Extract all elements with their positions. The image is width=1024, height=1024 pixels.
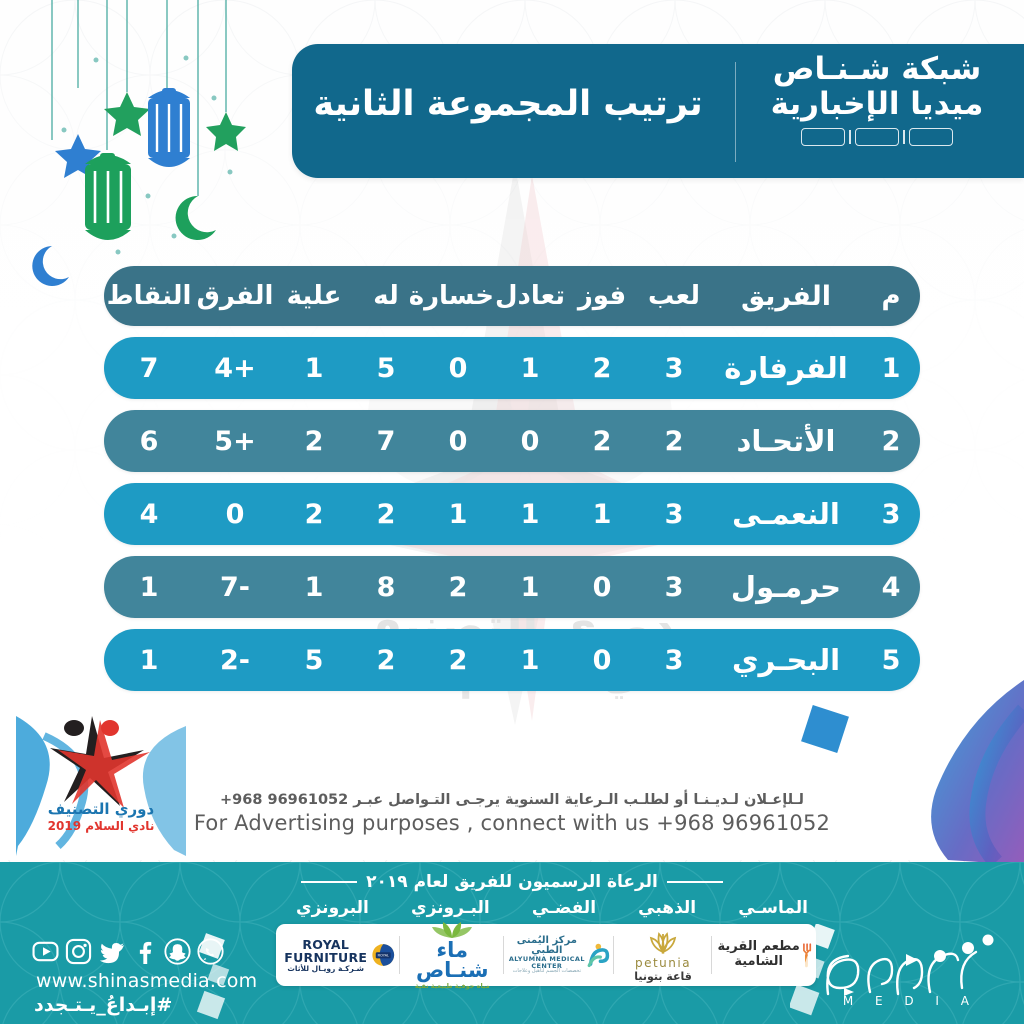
cell-played: 3 [638, 645, 710, 676]
cell-gf: 2 [350, 645, 422, 676]
sponsor-name-maa-shinas: ماء شنـاص [404, 941, 500, 981]
cell-loss: 2 [422, 645, 494, 676]
leaves-icon [429, 920, 475, 938]
header-divider [735, 62, 737, 162]
cell-team: البحـري [710, 643, 862, 677]
sponsor-name-royal: ROYAL FURNITURE [280, 938, 372, 964]
col-header-points: النقاط [106, 281, 192, 311]
cell-rank: 2 [862, 426, 920, 457]
brand-decoration-boxes [752, 128, 1002, 146]
table-row: 1 الفرفارة 3 2 1 0 5 1 +4 7 [104, 337, 920, 399]
brand-line-2: ميديا الإخبارية [752, 87, 1002, 122]
cell-gd: -7 [192, 572, 278, 603]
cell-team: الفرفارة [710, 351, 862, 385]
cell-gd: +5 [192, 426, 278, 457]
cell-gf: 5 [350, 353, 422, 384]
cell-ga: 5 [278, 645, 350, 676]
sponsor-sub-maa-shinas: مياه جوفية طبيعية نقية [404, 983, 500, 990]
tier-bronze-2: البرونزي [296, 898, 369, 918]
tier-diamond: الماسـي [738, 898, 808, 918]
advertising-block: لـلإعـلان لـديـنـا أو لطلـب الـرعاية الس… [0, 792, 1024, 835]
cell-played: 3 [638, 353, 710, 384]
poster-canvas: دوري التصنيف نادي السلام 2019 [0, 0, 1024, 1024]
twitter-icon[interactable] [98, 938, 125, 965]
cell-draw: 1 [494, 645, 566, 676]
advertising-english: For Advertising purposes , connect with … [0, 811, 1024, 835]
cell-rank: 3 [862, 499, 920, 530]
cell-loss: 0 [422, 353, 494, 384]
snapchat-icon[interactable] [164, 938, 191, 965]
cell-ga: 1 [278, 572, 350, 603]
sponsor-sub-royal: شـركـة رويـال للأثاث [280, 965, 372, 973]
page-title: ترتيب المجموعة الثانية [308, 84, 708, 124]
sponsors-heading: الرعاة الرسميون للفريق لعام ٢٠١٩ [0, 872, 1024, 892]
brand-block: شبكة شـنـاص ميديا الإخبارية [752, 52, 1002, 146]
cell-draw: 0 [494, 426, 566, 457]
sponsor-name-alyumna: مركز اليُمنى الطبي [508, 936, 585, 956]
brand-line-1: شبكة شـنـاص [752, 52, 1002, 87]
cell-gd: 0 [192, 499, 278, 530]
cell-win: 0 [566, 645, 638, 676]
sponsor-logo-royal-furniture[interactable]: ROYAL ROYAL FURNITURE شـركـة رويـال للأث… [276, 928, 400, 982]
hashtag-slogan: #إبـداعُ_يـتـجدد [34, 994, 172, 1016]
col-header-ga: علية [278, 281, 350, 311]
cell-gf: 7 [350, 426, 422, 457]
footer-bar: الرعاة الرسميون للفريق لعام ٢٠١٩ الماسـي… [0, 862, 1024, 1024]
heading-dash-left [667, 881, 723, 883]
heading-dash-right [301, 881, 357, 883]
sponsor-name-petunia: petunia [634, 957, 692, 969]
col-header-gd: الفرق [192, 281, 278, 311]
sponsor-sub-alyumna: تخصصات الجسم لتأهيل وعلاجات [508, 969, 585, 974]
table-header-row: م الفريق لعب فوز تعادل خسارة له علية الف… [104, 266, 920, 326]
cell-win: 2 [566, 353, 638, 384]
cell-points: 7 [106, 353, 192, 384]
cell-win: 0 [566, 572, 638, 603]
svg-text:ROYAL: ROYAL [378, 953, 389, 957]
cell-gf: 2 [350, 499, 422, 530]
cell-ga: 2 [278, 426, 350, 457]
cell-played: 3 [638, 499, 710, 530]
diamond-decoration-left [196, 932, 258, 1024]
media-logo-label: M E D I A [843, 994, 978, 1008]
tier-gold: الذهبي [638, 898, 696, 918]
sponsors-strip: مطعم القرية الشامية petunia [276, 924, 816, 986]
cell-points: 6 [106, 426, 192, 457]
facebook-icon[interactable] [131, 938, 158, 965]
cell-rank: 4 [862, 572, 920, 603]
cell-ga: 2 [278, 499, 350, 530]
cell-gd: -2 [192, 645, 278, 676]
cell-loss: 2 [422, 572, 494, 603]
tier-bronze-1: البـرونزي [411, 898, 490, 918]
sponsor-logo-petunia[interactable]: petunia قاعة بتونيا [614, 928, 711, 982]
cell-draw: 1 [494, 499, 566, 530]
tier-silver: الفضـي [532, 898, 596, 918]
cell-rank: 5 [862, 645, 920, 676]
col-header-win: فوز [566, 281, 638, 311]
table-row: 5 البحـري 3 0 1 2 2 5 -2 1 [104, 629, 920, 691]
col-header-played: لعب [638, 281, 710, 311]
cell-points: 1 [106, 645, 192, 676]
table-row: 3 النعمـى 3 1 1 1 2 2 0 4 [104, 483, 920, 545]
cell-team: الأتحـاد [710, 424, 862, 458]
table-row: 2 الأتحـاد 2 2 0 0 7 2 +5 6 [104, 410, 920, 472]
instagram-icon[interactable] [65, 938, 92, 965]
sponsor-name-qaryah: مطعم القرية الشامية [716, 940, 802, 969]
standings-table: م الفريق لعب فوز تعادل خسارة له علية الف… [104, 266, 920, 702]
col-header-gf: له [350, 281, 422, 311]
cell-draw: 1 [494, 353, 566, 384]
royal-globe-icon: ROYAL [371, 937, 396, 973]
cell-gd: +4 [192, 353, 278, 384]
cell-played: 3 [638, 572, 710, 603]
cell-loss: 1 [422, 499, 494, 530]
sponsors-heading-text: الرعاة الرسميون للفريق لعام ٢٠١٩ [366, 872, 658, 892]
advertising-arabic: لـلإعـلان لـديـنـا أو لطلـب الـرعاية الس… [0, 792, 1024, 808]
cell-points: 1 [106, 572, 192, 603]
col-header-team: الفريق [710, 281, 862, 312]
cell-win: 2 [566, 426, 638, 457]
cell-points: 4 [106, 499, 192, 530]
col-header-loss: خسارة [422, 281, 494, 311]
cell-rank: 1 [862, 353, 920, 384]
col-header-draw: تعادل [494, 281, 566, 311]
cell-win: 1 [566, 499, 638, 530]
table-row: 4 حرمـول 3 0 1 2 8 1 -7 1 [104, 556, 920, 618]
cell-ga: 1 [278, 353, 350, 384]
youtube-icon[interactable] [32, 938, 59, 965]
sponsor-logo-alyumna[interactable]: مركز اليُمنى الطبي ALYUMNA MEDICAL CENTE… [504, 928, 614, 982]
header-bar: شبكة شـنـاص ميديا الإخبارية ترتيب المجمو… [292, 44, 1024, 178]
cell-loss: 0 [422, 426, 494, 457]
lotus-icon [641, 928, 685, 954]
col-header-rank: م [862, 281, 920, 311]
cell-team: النعمـى [710, 497, 862, 531]
cell-gf: 8 [350, 572, 422, 603]
physio-icon [585, 938, 610, 972]
sponsor-tier-row: الماسـي الذهبي الفضـي البـرونزي البرونزي [296, 898, 808, 918]
cell-played: 2 [638, 426, 710, 457]
sponsor-logo-maa-shinas[interactable]: ماء شنـاص مياه جوفية طبيعية نقية [400, 928, 504, 982]
sponsor-sub-petunia: قاعة بتونيا [634, 971, 692, 982]
cell-draw: 1 [494, 572, 566, 603]
cell-team: حرمـول [710, 570, 862, 604]
